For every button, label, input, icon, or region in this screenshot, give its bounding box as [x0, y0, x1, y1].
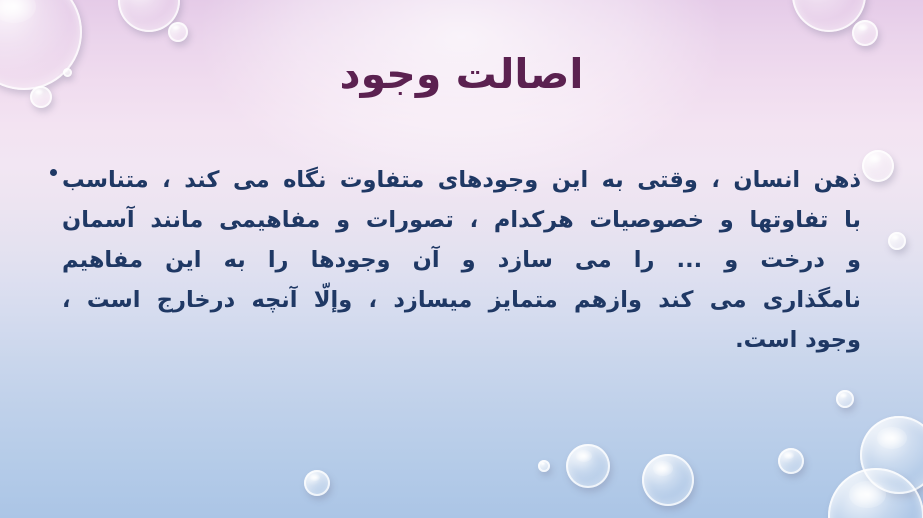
slide-canvas: اصالت وجود ذهن انسان ، وقتی به این وجوده… [0, 0, 923, 518]
bubble-bottom-right-md-icon [778, 448, 804, 474]
body-line-2: با تفاوتها و خصوصیات هرکدام ، تصورات و م… [62, 200, 861, 240]
bubble-right-upper-icon [888, 232, 906, 250]
bubble-bottom-mid-lg-icon [642, 454, 694, 506]
body-line-1: ذهن انسان ، وقتی به این وجودهای متفاوت ن… [62, 160, 861, 200]
bubble-bottom-left-icon [304, 470, 330, 496]
bubble-bottom-right-sm-icon [836, 390, 854, 408]
body-line-4: نامگذاری می کند وازهم متمایز میسازد ، وإ… [62, 280, 861, 320]
slide-title: اصالت وجود [0, 52, 923, 97]
bubble-bottom-right-xl-icon [860, 416, 923, 494]
bubble-top-left-medium-icon [118, 0, 180, 32]
bubble-top-right-large-icon [792, 0, 866, 32]
bubble-bottom-mid-tiny-icon [538, 460, 550, 472]
slide-body: ذهن انسان ، وقتی به این وجودهای متفاوت ن… [62, 160, 861, 360]
bubble-bottom-mid-md-icon [566, 444, 610, 488]
body-line-5: وجود است. [62, 320, 861, 360]
bubble-top-right-small-icon [852, 20, 878, 46]
bubble-right-mid-icon [862, 150, 894, 182]
bullet-paragraph: ذهن انسان ، وقتی به این وجودهای متفاوت ن… [62, 160, 861, 360]
bubble-bottom-right-lg-icon [828, 468, 923, 518]
bullet-point-icon [50, 169, 57, 176]
body-line-3: و درخت و ... را می سازد و آن وجودها را ب… [62, 240, 861, 280]
bubble-top-left-small-icon [168, 22, 188, 42]
